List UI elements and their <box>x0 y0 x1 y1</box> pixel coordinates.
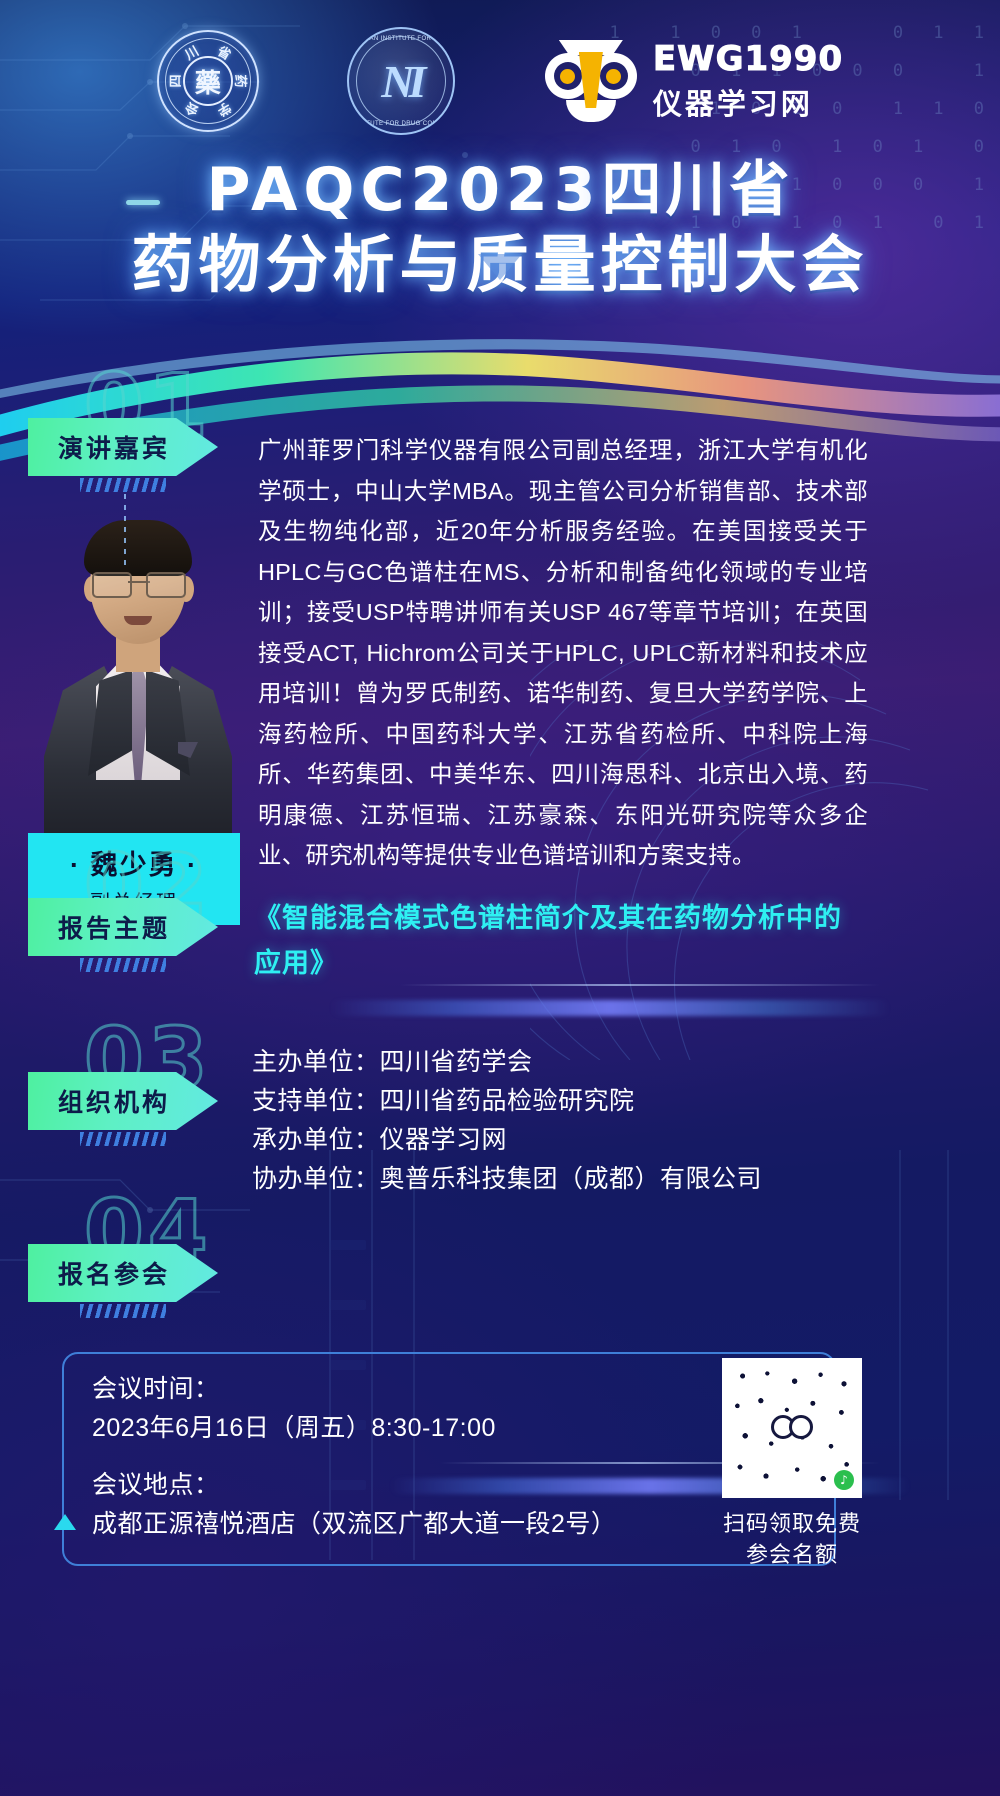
qr-code-block[interactable]: ♪ 扫码领取免费 参会名额 <box>692 1358 892 1570</box>
section-01-hatch-decoration <box>80 478 166 492</box>
title-caret-decoration <box>478 254 522 280</box>
organization-list: 主办单位：四川省药学会 支持单位：四川省药品检验研究院 承办单位：仪器学习网 协… <box>252 1043 892 1199</box>
title-line-1-english: PAQC2023 <box>207 155 602 225</box>
ewg-chinese-name: 仪器学习网 <box>653 81 843 123</box>
nifdc-inner-ring <box>356 36 446 126</box>
section-03-tag-label: 组织机构 <box>58 1083 170 1119</box>
institute-for-drug-control-logo-icon: NI SICHUAN INSTITUTE FOR DRUG CONTROL IN… <box>347 27 455 135</box>
meeting-place-label: 会议地点： <box>92 1466 692 1505</box>
section-03-organizations: 03 组织机构 <box>28 1072 218 1130</box>
owl-icon <box>543 40 639 122</box>
ewg-english-name: EWG1990 <box>653 39 843 79</box>
ewg-wordmark: EWG1990 仪器学习网 <box>653 39 843 123</box>
section-02-topic: 02 报告主题 <box>28 898 218 956</box>
meeting-time-group: 会议时间： 2023年6月16日（周五）8:30-17:00 <box>92 1370 692 1448</box>
section-04-registration: 04 报名参会 <box>28 1244 218 1302</box>
qr-caption-line-2: 参会名额 <box>692 1539 892 1570</box>
organization-item-organizer: 承办单位：仪器学习网 <box>252 1121 892 1160</box>
poster-title: PAQC2023四川省 药物分析与质量控制大会 <box>0 158 1000 300</box>
title-line-1-chinese: 四川省 <box>601 156 793 223</box>
speaker-portrait <box>38 520 238 840</box>
seal-ring-char: 药 <box>232 74 251 87</box>
portrait-glasses-icon <box>92 572 186 596</box>
title-dash-decoration <box>126 200 160 205</box>
meeting-time-value: 2023年6月16日（周五）8:30-17:00 <box>92 1409 692 1448</box>
seal-ring-char: 四 <box>165 74 184 87</box>
speaker-biography: 广州菲罗门科学仪器有限公司副总经理，浙江大学有机化学硕士，中山大学MBA。现主管… <box>258 430 868 876</box>
section-04-hatch-decoration <box>80 1304 166 1318</box>
organization-item-supporter: 支持单位：四川省药品检验研究院 <box>252 1082 892 1121</box>
organization-item-coorganizer: 协办单位：奥普乐科技集团（成都）有限公司 <box>252 1160 892 1199</box>
title-line-1: PAQC2023四川省 <box>0 158 1000 223</box>
ewg1990-logo-icon: EWG1990 仪器学习网 <box>543 39 843 123</box>
conference-poster: 1 1 0 0 1 0 1 1 0 1 1 0 0 0 1 1 0 1 0 1 … <box>0 0 1000 1796</box>
meeting-time-label: 会议时间： <box>92 1370 692 1409</box>
registration-details: 会议时间： 2023年6月16日（周五）8:30-17:00 会议地点： 成都正… <box>92 1370 692 1544</box>
qr-caption: 扫码领取免费 参会名额 <box>692 1508 892 1570</box>
glow-divider-1 <box>330 1000 890 1016</box>
organization-item-host: 主办单位：四川省药学会 <box>252 1043 892 1082</box>
nifdc-arc-top-label: SICHUAN INSTITUTE FOR DRUG CONTROL <box>349 36 453 42</box>
section-04-tag-label: 报名参会 <box>58 1255 170 1291</box>
nifdc-arc-bottom-label: INSTITUTE FOR DRUG CONTROL <box>349 121 453 127</box>
section-01-tag-label: 演讲嘉宾 <box>58 429 170 465</box>
section-01-speaker: 01 演讲嘉宾 <box>28 418 218 476</box>
sichuan-pharmaceutical-association-seal-icon: 藥 四川省药学会 <box>157 30 259 132</box>
section-02-tag-label: 报告主题 <box>58 909 170 945</box>
section-03-hatch-decoration <box>80 1132 166 1146</box>
section-02-hatch-decoration <box>80 958 166 972</box>
report-topic-text: 《智能混合模式色谱柱简介及其在药物分析中的应用》 <box>254 896 864 986</box>
portrait-hair <box>84 520 192 576</box>
meeting-place-group: 会议地点： 成都正源禧悦酒店（双流区广都大道一段2号） <box>92 1466 692 1544</box>
qr-platform-badge-icon: ♪ <box>834 1470 854 1490</box>
meeting-place-value: 成都正源禧悦酒店（双流区广都大道一段2号） <box>92 1505 692 1544</box>
qr-code-image[interactable]: ♪ <box>722 1358 862 1498</box>
qr-owl-logo-icon <box>771 1409 813 1447</box>
section-01-stem-decoration <box>124 494 126 568</box>
logo-row: 藥 四川省药学会 NI SICHUAN INSTITUTE FOR DRUG C… <box>0 26 1000 136</box>
qr-caption-line-1: 扫码领取免费 <box>692 1508 892 1539</box>
